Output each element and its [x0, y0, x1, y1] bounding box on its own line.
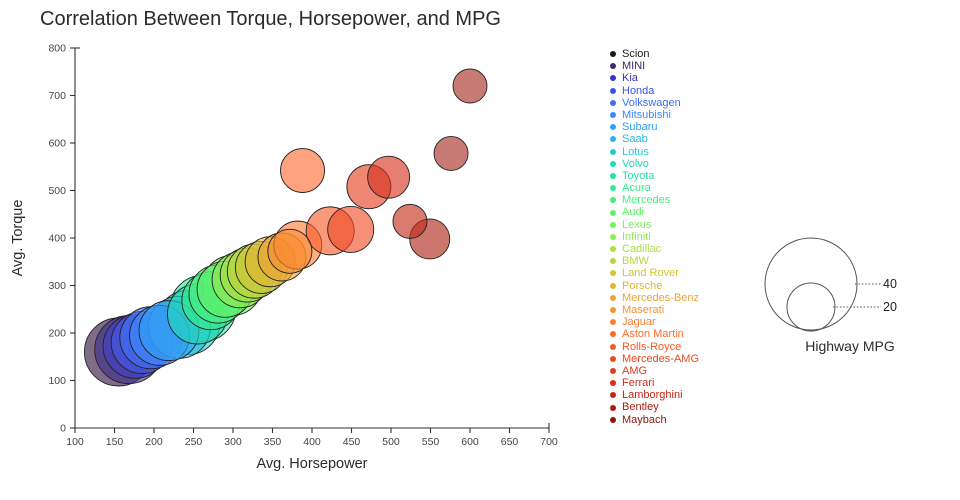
x-tick-label: 700: [540, 436, 558, 448]
legend-item-label: Toyota: [622, 170, 654, 182]
y-tick-label: 500: [48, 185, 66, 197]
legend-item-maybach[interactable]: Maybach: [610, 414, 760, 426]
y-tick-label: 700: [48, 90, 66, 102]
legend-item-label: Cadillac: [622, 243, 661, 255]
legend-item-label: Mercedes: [622, 194, 670, 206]
legend-item-jaguar[interactable]: Jaguar: [610, 316, 760, 328]
size-legend-value-40: 40: [883, 277, 897, 291]
x-tick-label: 150: [106, 436, 124, 448]
legend-item-label: Scion: [622, 48, 650, 60]
legend-item-amg[interactable]: AMG: [610, 365, 760, 377]
legend-color-dot: [610, 246, 616, 252]
legend-color-dot: [610, 210, 616, 216]
legend-item-label: Lexus: [622, 219, 651, 231]
legend-item-label: Porsche: [622, 280, 662, 292]
y-tick-label: 600: [48, 138, 66, 150]
legend-item-label: Mitsubishi: [622, 109, 671, 121]
legend-color-dot: [610, 258, 616, 264]
legend-item-volkswagen[interactable]: Volkswagen: [610, 97, 760, 109]
legend-color-dot: [610, 51, 616, 57]
legend-item-label: BMW: [622, 255, 649, 267]
legend-item-honda[interactable]: Honda: [610, 85, 760, 97]
size-legend-value-20: 20: [883, 300, 897, 314]
legend-color-dot: [610, 392, 616, 398]
chart-page: Correlation Between Torque, Horsepower, …: [0, 0, 960, 500]
y-tick-label: 100: [48, 375, 66, 387]
legend-color-dot: [610, 319, 616, 325]
legend-item-bentley[interactable]: Bentley: [610, 401, 760, 413]
x-tick-label: 450: [343, 436, 361, 448]
legend-item-mercedes-amg[interactable]: Mercedes-AMG: [610, 353, 760, 365]
legend-item-label: Land Rover: [622, 267, 679, 279]
legend-color-dot: [610, 344, 616, 350]
legend-item-label: Maserati: [622, 304, 664, 316]
legend-color-dot: [610, 380, 616, 386]
legend-color-dot: [610, 307, 616, 313]
legend-color-dot: [610, 88, 616, 94]
x-tick-label: 350: [264, 436, 282, 448]
legend-item-acura[interactable]: Acura: [610, 182, 760, 194]
legend-item-label: Volkswagen: [622, 97, 681, 109]
bubble-point[interactable]: [393, 204, 427, 238]
legend-item-rolls-royce[interactable]: Rolls-Royce: [610, 341, 760, 353]
legend-item-mini[interactable]: MINI: [610, 60, 760, 72]
legend-item-label: MINI: [622, 60, 645, 72]
y-axis-title: Avg. Torque: [10, 200, 26, 277]
legend-color-dot: [610, 75, 616, 81]
legend-color-dot: [610, 222, 616, 228]
legend-item-lotus[interactable]: Lotus: [610, 146, 760, 158]
legend-item-label: Rolls-Royce: [622, 341, 681, 353]
x-tick-label: 300: [224, 436, 242, 448]
legend-item-bmw[interactable]: BMW: [610, 255, 760, 267]
legend-item-label: Maybach: [622, 414, 667, 426]
legend-color-dot: [610, 149, 616, 155]
x-tick-label: 550: [422, 436, 440, 448]
legend-item-label: Mercedes-Benz: [622, 292, 699, 304]
legend-item-mercedes[interactable]: Mercedes: [610, 194, 760, 206]
x-tick-label: 100: [66, 436, 84, 448]
legend-color-dot: [610, 295, 616, 301]
brand-color-legend[interactable]: ScionMINIKiaHondaVolkswagenMitsubishiSub…: [610, 48, 760, 426]
legend-item-porsche[interactable]: Porsche: [610, 280, 760, 292]
legend-color-dot: [610, 197, 616, 203]
legend-item-land-rover[interactable]: Land Rover: [610, 267, 760, 279]
legend-color-dot: [610, 234, 616, 240]
legend-item-label: Infiniti: [622, 231, 651, 243]
legend-item-label: Honda: [622, 85, 654, 97]
legend-item-label: Volvo: [622, 158, 649, 170]
legend-color-dot: [610, 368, 616, 374]
x-axis-title: Avg. Horsepower: [257, 456, 368, 472]
legend-color-dot: [610, 100, 616, 106]
legend-item-label: Saab: [622, 133, 648, 145]
legend-item-label: Lamborghini: [622, 389, 683, 401]
legend-item-label: Acura: [622, 182, 651, 194]
bubble-point[interactable]: [281, 149, 325, 193]
legend-color-dot: [610, 356, 616, 362]
legend-color-dot: [610, 63, 616, 69]
legend-item-subaru[interactable]: Subaru: [610, 121, 760, 133]
legend-item-audi[interactable]: Audi: [610, 206, 760, 218]
legend-item-scion[interactable]: Scion: [610, 48, 760, 60]
legend-item-lexus[interactable]: Lexus: [610, 219, 760, 231]
bubble-point[interactable]: [268, 229, 312, 273]
legend-item-lamborghini[interactable]: Lamborghini: [610, 389, 760, 401]
bubble-point[interactable]: [368, 156, 410, 198]
legend-item-label: Lotus: [622, 146, 649, 158]
legend-item-label: Kia: [622, 72, 638, 84]
legend-item-label: Audi: [622, 206, 644, 218]
x-tick-label: 600: [461, 436, 479, 448]
bubble-point[interactable]: [328, 206, 374, 252]
legend-color-dot: [610, 417, 616, 423]
legend-item-label: Ferrari: [622, 377, 654, 389]
x-tick-label: 250: [185, 436, 203, 448]
legend-item-kia[interactable]: Kia: [610, 72, 760, 84]
legend-item-saab[interactable]: Saab: [610, 133, 760, 145]
legend-color-dot: [610, 124, 616, 130]
legend-color-dot: [610, 185, 616, 191]
bubble-point[interactable]: [434, 136, 468, 170]
x-tick-label: 650: [501, 436, 519, 448]
bubble-point[interactable]: [453, 69, 487, 103]
legend-item-mercedes-benz[interactable]: Mercedes-Benz: [610, 292, 760, 304]
size-legend-circle-40: [765, 238, 857, 330]
legend-item-volvo[interactable]: Volvo: [610, 158, 760, 170]
y-tick-label: 300: [48, 280, 66, 292]
legend-item-cadillac[interactable]: Cadillac: [610, 243, 760, 255]
x-tick-label: 400: [303, 436, 321, 448]
legend-item-label: Subaru: [622, 121, 657, 133]
legend-item-toyota[interactable]: Toyota: [610, 170, 760, 182]
legend-item-infiniti[interactable]: Infiniti: [610, 231, 760, 243]
y-tick-label: 800: [48, 43, 66, 55]
legend-item-label: Mercedes-AMG: [622, 353, 699, 365]
y-tick-label: 400: [48, 233, 66, 245]
legend-color-dot: [610, 283, 616, 289]
legend-color-dot: [610, 136, 616, 142]
legend-item-label: AMG: [622, 365, 647, 377]
legend-item-label: Bentley: [622, 401, 659, 413]
legend-item-mitsubishi[interactable]: Mitsubishi: [610, 109, 760, 121]
legend-color-dot: [610, 405, 616, 411]
legend-item-label: Aston Martin: [622, 328, 684, 340]
x-tick-label: 500: [382, 436, 400, 448]
size-legend-title: Highway MPG: [755, 338, 945, 354]
legend-color-dot: [610, 270, 616, 276]
size-legend-circle-20: [787, 283, 835, 331]
x-tick-label: 200: [145, 436, 163, 448]
legend-item-ferrari[interactable]: Ferrari: [610, 377, 760, 389]
legend-color-dot: [610, 331, 616, 337]
y-tick-label: 200: [48, 328, 66, 340]
legend-color-dot: [610, 161, 616, 167]
legend-item-aston-martin[interactable]: Aston Martin: [610, 328, 760, 340]
legend-item-maserati[interactable]: Maserati: [610, 304, 760, 316]
legend-item-label: Jaguar: [622, 316, 656, 328]
legend-color-dot: [610, 112, 616, 118]
y-tick-label: 0: [60, 423, 66, 435]
legend-color-dot: [610, 173, 616, 179]
